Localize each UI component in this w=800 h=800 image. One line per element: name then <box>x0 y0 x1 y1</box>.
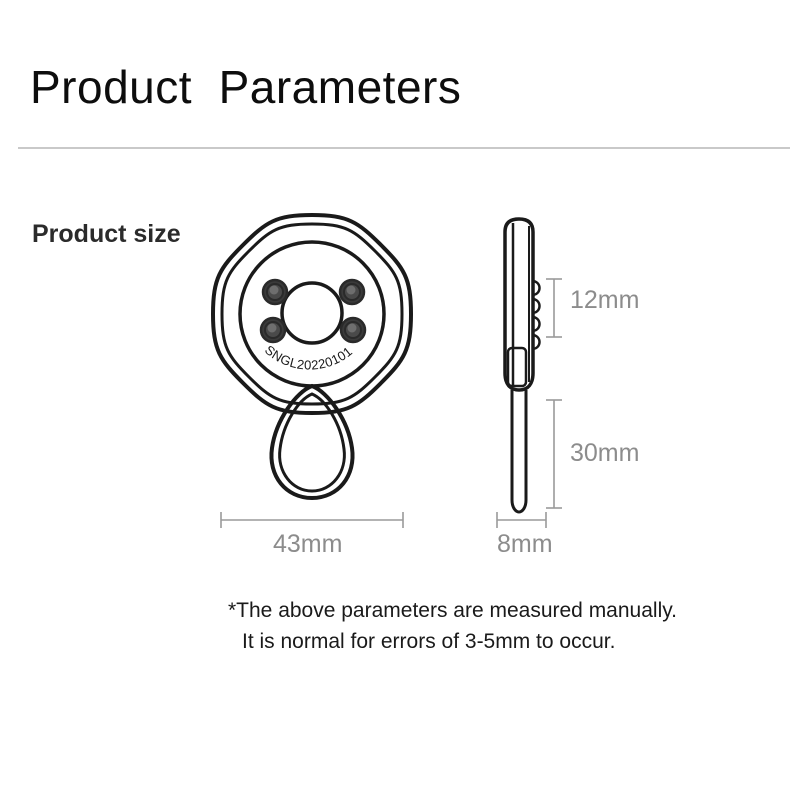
side-strap <box>512 390 526 512</box>
dimension-label-strap-length: 30mm <box>570 441 639 466</box>
product-size-diagram: SNGL20220101 <box>0 0 800 800</box>
product-parameters-page: Product Parameters Product size <box>0 0 800 800</box>
dimension-label-thickness: 8mm <box>497 532 553 557</box>
dimension-line-8mm <box>497 512 546 528</box>
page-title: Product Parameters <box>30 64 461 110</box>
serial-number-textpath: SNGL20220101 <box>262 342 355 372</box>
led-sensor <box>341 318 365 342</box>
lens-circle <box>282 283 342 343</box>
dimension-line-12mm <box>546 279 562 337</box>
dimension-line-30mm <box>546 400 562 508</box>
header-divider <box>18 147 790 149</box>
face-circle <box>240 242 384 386</box>
led-sensor <box>263 280 287 304</box>
section-label-product-size: Product size <box>32 222 181 247</box>
side-port-rect <box>508 348 526 386</box>
serial-number-text: SNGL20220101 <box>262 342 355 372</box>
side-view <box>505 219 540 512</box>
side-body-outline <box>505 219 533 390</box>
led-sensor <box>261 318 285 342</box>
body-outline-outer <box>213 215 411 413</box>
side-led-bump <box>532 281 540 349</box>
dimension-label-width: 43mm <box>273 532 342 557</box>
footnote-line-1: *The above parameters are measured manua… <box>228 599 677 622</box>
dimension-label-depth: 12mm <box>570 288 639 313</box>
front-view: SNGL20220101 <box>213 215 411 498</box>
dimension-lines <box>221 279 562 528</box>
led-sensor <box>340 280 364 304</box>
keyring-loop <box>271 386 352 498</box>
body-outline-inner <box>222 224 402 404</box>
footnote: *The above parameters are measured manua… <box>228 595 768 657</box>
footnote-line-2: It is normal for errors of 3-5mm to occu… <box>228 626 768 657</box>
dimension-line-43mm <box>221 512 403 528</box>
